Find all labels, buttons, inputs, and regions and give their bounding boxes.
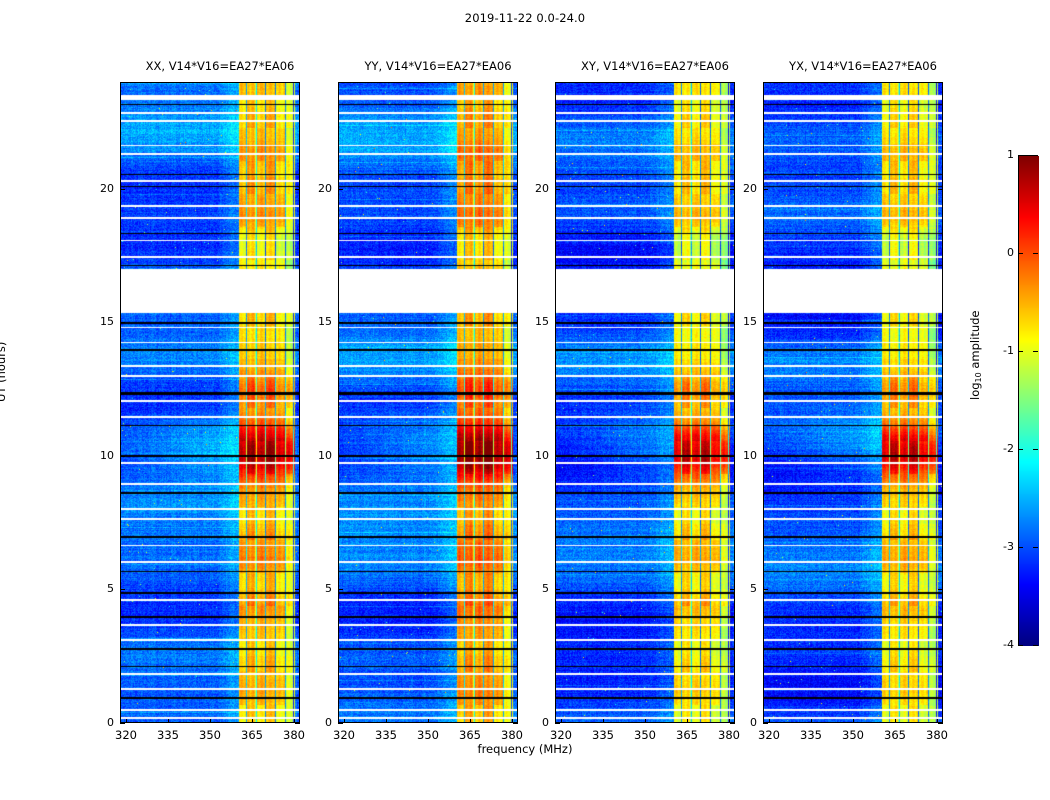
figure-canvas: 2019-11-22 0.0-24.0 XX, V14*V16=EA27*EA0… (0, 0, 1050, 800)
x-tick-label: 320 (749, 728, 789, 742)
spectrum-panel-yx[interactable] (763, 82, 943, 723)
x-tick (937, 719, 938, 723)
x-tick (811, 719, 812, 723)
x-tick-label: 320 (324, 728, 364, 742)
x-tick-label: 365 (450, 728, 490, 742)
colorbar-tick-label: -2 (984, 442, 1014, 455)
dynamic-spectrum-image (339, 83, 517, 722)
x-tick-label: 335 (366, 728, 406, 742)
x-tick (853, 719, 854, 723)
y-tick-label: 20 (509, 182, 549, 195)
y-tick (763, 189, 768, 190)
colorbar-label: log10 amplitude (968, 311, 983, 401)
x-tick-label: 320 (106, 728, 146, 742)
panel-title-yx: YX, V14*V16=EA27*EA06 (733, 59, 993, 73)
y-tick-label: 5 (292, 582, 332, 595)
x-tick-label: 365 (875, 728, 915, 742)
colorbar-tick-label: 0 (984, 246, 1014, 259)
y-tick-label: 15 (292, 315, 332, 328)
x-tick (687, 719, 688, 723)
colorbar-tick (1033, 449, 1038, 450)
x-tick-label: 380 (917, 728, 957, 742)
y-tick (555, 589, 560, 590)
x-tick-label: 335 (791, 728, 831, 742)
x-tick (252, 719, 253, 723)
y-tick (120, 189, 125, 190)
y-tick (120, 322, 125, 323)
y-tick (338, 456, 343, 457)
colorbar-tick-label: -3 (984, 540, 1014, 553)
x-tick-label: 350 (190, 728, 230, 742)
figure-title: 2019-11-22 0.0-24.0 (0, 11, 1050, 25)
colorbar-tick-label: -1 (984, 344, 1014, 357)
y-tick (120, 589, 125, 590)
x-tick (210, 719, 211, 723)
dynamic-spectrum-image (121, 83, 299, 722)
y-tick-label: 5 (74, 582, 114, 595)
colorbar-tick (1033, 547, 1038, 548)
y-tick (938, 723, 943, 724)
x-tick-label: 365 (667, 728, 707, 742)
x-tick (645, 719, 646, 723)
x-tick-label: 380 (709, 728, 749, 742)
x-tick-label: 380 (274, 728, 314, 742)
spectrum-panel-yy[interactable] (338, 82, 518, 723)
y-tick (763, 723, 768, 724)
y-tick-label: 5 (509, 582, 549, 595)
colorbar-tick (1033, 155, 1038, 156)
y-tick-label: 10 (509, 449, 549, 462)
dynamic-spectrum-image (764, 83, 942, 722)
y-tick (338, 322, 343, 323)
colorbar-tick (1018, 645, 1023, 646)
y-tick (555, 723, 560, 724)
colorbar-tick (1018, 351, 1023, 352)
x-tick (470, 719, 471, 723)
colorbar-tick-label: -4 (984, 638, 1014, 651)
y-tick (338, 723, 343, 724)
x-tick-label: 320 (541, 728, 581, 742)
y-tick (120, 456, 125, 457)
spectrum-panel-xy[interactable] (555, 82, 735, 723)
x-tick (603, 719, 604, 723)
dynamic-spectrum-image (556, 83, 734, 722)
x-tick-label: 350 (625, 728, 665, 742)
colorbar-tick (1018, 449, 1023, 450)
y-tick-label: 20 (717, 182, 757, 195)
colorbar-tick (1033, 351, 1038, 352)
y-tick (763, 589, 768, 590)
colorbar-tick-label: 1 (984, 148, 1014, 161)
colorbar-tick (1018, 253, 1023, 254)
colorbar-tick (1033, 645, 1038, 646)
y-tick (338, 589, 343, 590)
y-tick-label: 20 (292, 182, 332, 195)
y-tick (120, 723, 125, 724)
x-tick (126, 719, 127, 723)
y-axis-label: UT (hours) (0, 342, 8, 402)
y-tick (555, 189, 560, 190)
colorbar-tick (1018, 155, 1023, 156)
y-tick (555, 322, 560, 323)
x-tick (168, 719, 169, 723)
y-tick-label: 10 (74, 449, 114, 462)
colorbar-gradient (1019, 156, 1039, 646)
y-tick (763, 322, 768, 323)
x-tick-label: 380 (492, 728, 532, 742)
y-tick-label: 10 (717, 449, 757, 462)
y-tick-label: 15 (74, 315, 114, 328)
x-tick (428, 719, 429, 723)
y-tick (763, 456, 768, 457)
y-tick-label: 20 (74, 182, 114, 195)
y-tick (338, 189, 343, 190)
y-tick-label: 15 (509, 315, 549, 328)
colorbar[interactable] (1018, 155, 1038, 645)
x-tick (386, 719, 387, 723)
x-tick (769, 719, 770, 723)
x-tick-label: 350 (408, 728, 448, 742)
y-tick (938, 589, 943, 590)
y-tick-label: 5 (717, 582, 757, 595)
colorbar-tick (1018, 547, 1023, 548)
y-tick (938, 322, 943, 323)
x-axis-label: frequency (MHz) (0, 742, 1050, 756)
x-tick (895, 719, 896, 723)
y-tick-label: 15 (717, 315, 757, 328)
x-tick (344, 719, 345, 723)
y-tick-label: 10 (292, 449, 332, 462)
y-tick (938, 456, 943, 457)
y-tick (555, 456, 560, 457)
x-tick-label: 365 (232, 728, 272, 742)
spectrum-panel-xx[interactable] (120, 82, 300, 723)
x-tick-label: 335 (583, 728, 623, 742)
y-tick (938, 189, 943, 190)
x-tick (561, 719, 562, 723)
colorbar-tick (1033, 253, 1038, 254)
x-tick-label: 335 (148, 728, 188, 742)
x-tick-label: 350 (833, 728, 873, 742)
